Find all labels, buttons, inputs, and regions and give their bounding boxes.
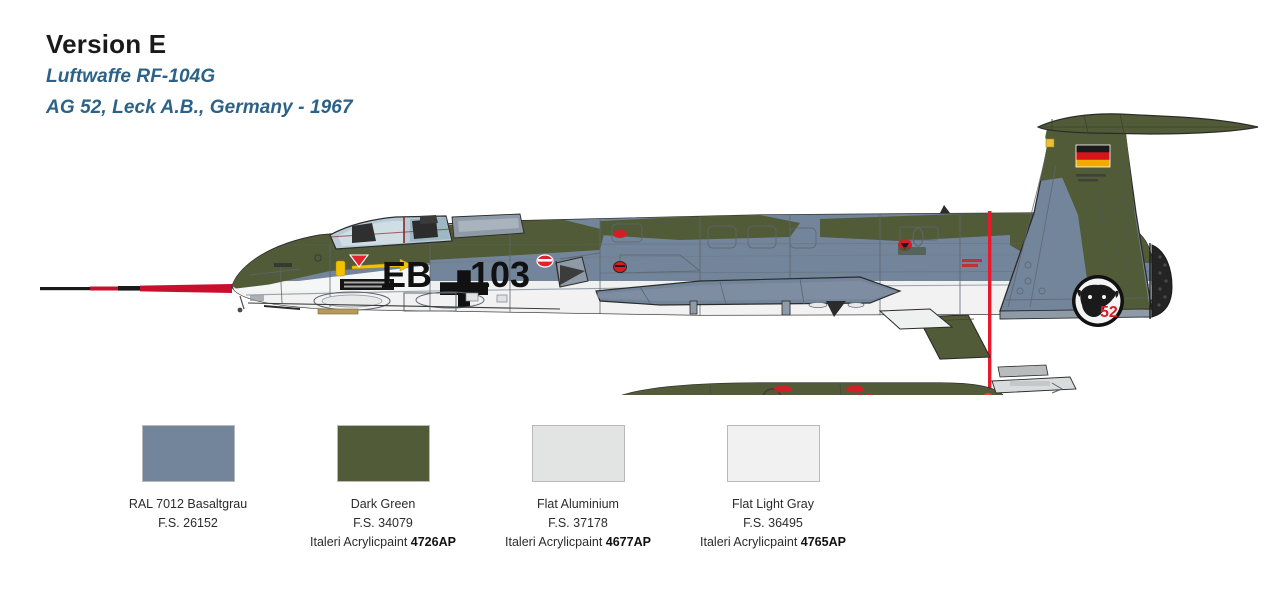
swatch-name-4: Flat Light Gray	[623, 495, 923, 514]
paint-color-chart: RAL 7012 Basaltgrau F.S. 26152 Dark Gree…	[0, 425, 1280, 575]
swatch-paint-label-2: Italeri Acrylicpaint	[310, 535, 411, 549]
aircraft-designation: Luftwaffe RF-104G	[46, 64, 353, 91]
color-swatch-flat-light-gray	[727, 425, 820, 482]
color-swatch-flat-aluminium	[532, 425, 625, 482]
german-flag-marking	[1076, 145, 1110, 167]
swatch-paint-4: Italeri Acrylicpaint 4765AP	[623, 533, 923, 552]
page-title: Version E	[46, 30, 353, 60]
nose-pitot-boom	[40, 284, 232, 293]
code-letters-eb: EB	[382, 254, 432, 295]
code-number-103: 103	[470, 254, 530, 295]
exhaust-nozzle	[1150, 243, 1172, 319]
paint-swatch-group-4: Flat Light Gray F.S. 36495 Italeri Acryl…	[623, 425, 923, 552]
swatch-paint-label-3: Italeri Acrylicpaint	[505, 535, 606, 549]
swatch-paint-code-4: 4765AP	[801, 535, 846, 549]
rescue-break-in-stripe	[988, 211, 991, 389]
color-swatch-ral-7012	[142, 425, 235, 482]
aircraft-side-profile-illustration: EB 103	[0, 95, 1280, 395]
swatch-fs-4: F.S. 36495	[623, 514, 923, 533]
color-swatch-dark-green	[337, 425, 430, 482]
horizontal-stabilizer	[1038, 114, 1258, 134]
squadron-badge-ag52: 52	[1072, 275, 1124, 327]
air-intake	[556, 257, 588, 287]
fin-yellow-marking	[1046, 139, 1054, 147]
underwing-fuel-tank-inboard	[600, 380, 1010, 395]
badge-number-52: 52	[1100, 304, 1118, 321]
paint-scheme-sheet: Version E Luftwaffe RF-104G AG 52, Leck …	[0, 0, 1280, 595]
swatch-paint-label-4: Italeri Acrylicpaint	[700, 535, 801, 549]
